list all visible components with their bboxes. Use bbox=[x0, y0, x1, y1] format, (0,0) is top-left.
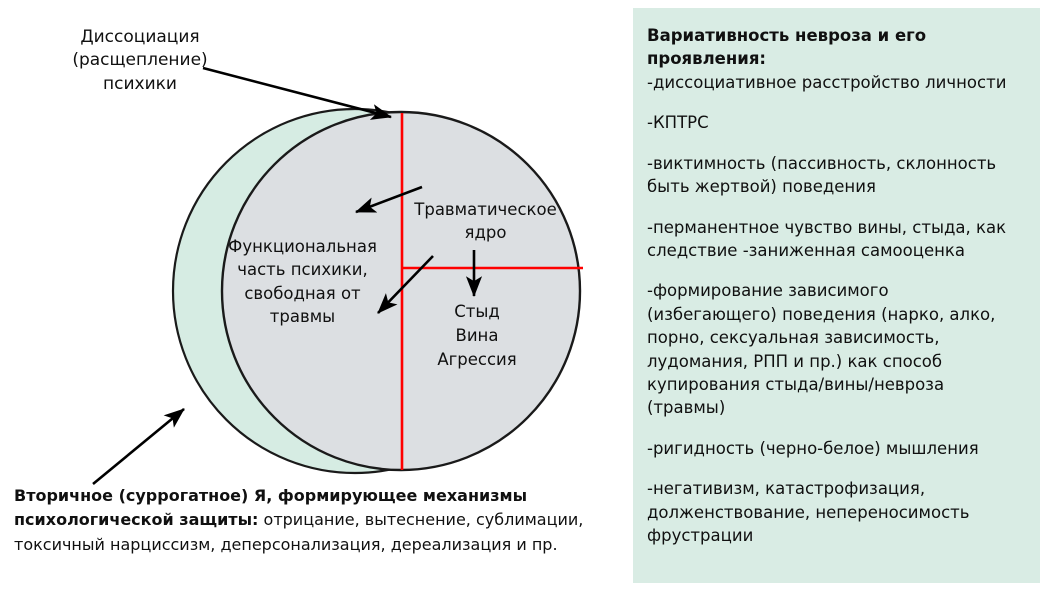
label-dissociation: Диссоциация (расщепление) психики bbox=[30, 26, 250, 96]
panel-title: Вариативность невроза и его проявления: bbox=[647, 24, 1022, 71]
panel-item-5: -ригидность (черно-белое) мышления bbox=[647, 437, 1022, 460]
panel-item-1: -КПТРС bbox=[647, 111, 1022, 134]
panel-item-4: -формирование зависимого (избегающего) п… bbox=[647, 279, 1022, 420]
caption-secondary-self: Вторичное (суррогатное) Я, формирующее м… bbox=[14, 484, 606, 557]
neurosis-variability-panel: Вариативность невроза и его проявления: … bbox=[633, 8, 1040, 583]
diagram-panel: Диссоциация (расщепление) психики Функци… bbox=[0, 0, 620, 591]
panel-item-2: -виктимность (пассивность, склонность бы… bbox=[647, 152, 1022, 199]
label-shame-guilt-aggression: Стыд Вина Агрессия bbox=[412, 300, 542, 372]
panel-item-3: -перманентное чувство вины, стыда, как с… bbox=[647, 216, 1022, 263]
label-traumatic-core: Травматическое ядро bbox=[398, 198, 573, 245]
label-functional-part-of-psyche: Функциональная часть психики, свободная … bbox=[215, 235, 390, 329]
panel-item-0: -диссоциативное расстройство личности bbox=[647, 71, 1022, 94]
panel-item-6: -негативизм, катастрофизация, долженство… bbox=[647, 477, 1022, 547]
arrow-secondary-self bbox=[93, 409, 184, 484]
